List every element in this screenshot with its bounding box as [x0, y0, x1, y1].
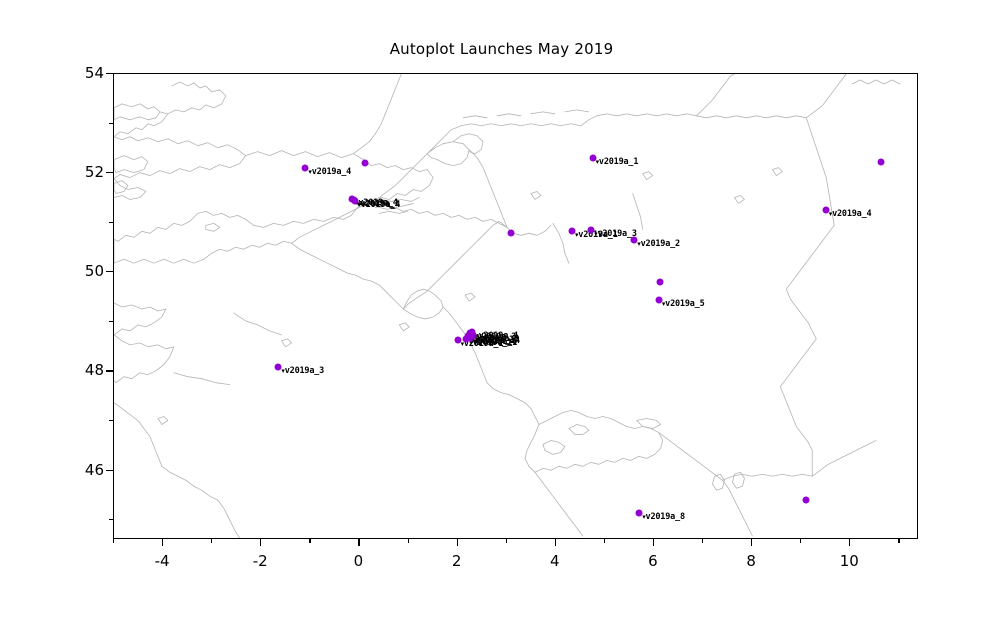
scatter-point-label: ▾v2019a_4 [358, 200, 401, 210]
label-caret-icon: ▾ [358, 201, 361, 209]
x-tick-minor [800, 539, 801, 543]
y-axis-tick-labels: 4648505254 [60, 0, 104, 633]
y-tick-label: 54 [85, 64, 104, 82]
y-tick-label: 52 [85, 163, 104, 181]
y-tick-minor [109, 420, 113, 421]
scatter-point [803, 497, 810, 504]
chart-title: Autoplot Launches May 2019 [0, 40, 1003, 58]
label-caret-icon: ▾ [308, 168, 311, 176]
x-tick-minor [113, 539, 114, 543]
scatter-point [877, 159, 884, 166]
scatter-point-label: ▾v2019a_14 [472, 336, 520, 346]
x-tick-minor [898, 539, 899, 543]
scatter-point-label: ▾v2019a_1 [596, 157, 639, 167]
label-caret-icon: ▾ [575, 231, 578, 239]
label-caret-icon: ▾ [637, 240, 640, 248]
y-tick-minor [109, 321, 113, 322]
scatter-point-label: ▾v2019a_2 [637, 239, 680, 249]
x-tick-label: -2 [253, 552, 268, 570]
x-tick-major [653, 539, 654, 546]
plot-area: ▾v2019a_4▾v2019a_4▾v2019a_1▾v2019a_4▾v20… [113, 73, 918, 539]
x-tick-minor [702, 539, 703, 543]
x-tick-major [457, 539, 458, 546]
x-tick-label: 2 [452, 552, 462, 570]
x-tick-label: 4 [550, 552, 560, 570]
label-caret-icon: ▾ [472, 337, 475, 345]
label-caret-icon: ▾ [829, 210, 832, 218]
x-tick-label: -4 [155, 552, 170, 570]
x-tick-major [260, 539, 261, 546]
scatter-point [362, 160, 369, 167]
scatter-point-label: ▾v2019a_5 [662, 299, 705, 309]
y-tick-minor [109, 222, 113, 223]
x-tick-major [849, 539, 850, 546]
label-caret-icon: ▾ [662, 300, 665, 308]
scatter-point-label: ▾v2019a_3 [281, 366, 324, 376]
y-tick-minor [109, 123, 113, 124]
label-caret-icon: ▾ [594, 230, 597, 238]
y-tick-major [106, 271, 113, 272]
x-tick-minor [506, 539, 507, 543]
x-tick-label: 8 [746, 552, 756, 570]
y-tick-label: 50 [85, 262, 104, 280]
x-tick-minor [309, 539, 310, 543]
scatter-point [657, 279, 664, 286]
label-caret-icon: ▾ [281, 367, 284, 375]
chart-page: Autoplot Launches May 2019 [0, 0, 1003, 633]
y-tick-label: 46 [85, 461, 104, 479]
y-tick-major [106, 73, 113, 74]
x-tick-minor [408, 539, 409, 543]
x-tick-minor [604, 539, 605, 543]
label-caret-icon: ▾ [596, 158, 599, 166]
scatter-point-label: ▾v2019a_8 [642, 512, 685, 522]
y-tick-label: 48 [85, 361, 104, 379]
y-tick-major [106, 172, 113, 173]
y-tick-major [106, 470, 113, 471]
scatter-point-label: ▾v2019a_4 [308, 167, 351, 177]
label-caret-icon: ▾ [642, 513, 645, 521]
scatter-point [507, 229, 514, 236]
scatter-point-label: ▾v2019a_4 [829, 209, 872, 219]
x-tick-major [555, 539, 556, 546]
x-tick-minor [211, 539, 212, 543]
x-tick-major [358, 539, 359, 546]
y-tick-minor [109, 519, 113, 520]
x-tick-major [751, 539, 752, 546]
x-tick-label: 10 [840, 552, 859, 570]
y-tick-major [106, 370, 113, 371]
scatter-points-layer: ▾v2019a_4▾v2019a_4▾v2019a_1▾v2019a_4▾v20… [114, 74, 917, 538]
x-tick-major [162, 539, 163, 546]
x-tick-label: 0 [354, 552, 364, 570]
x-tick-label: 6 [648, 552, 658, 570]
